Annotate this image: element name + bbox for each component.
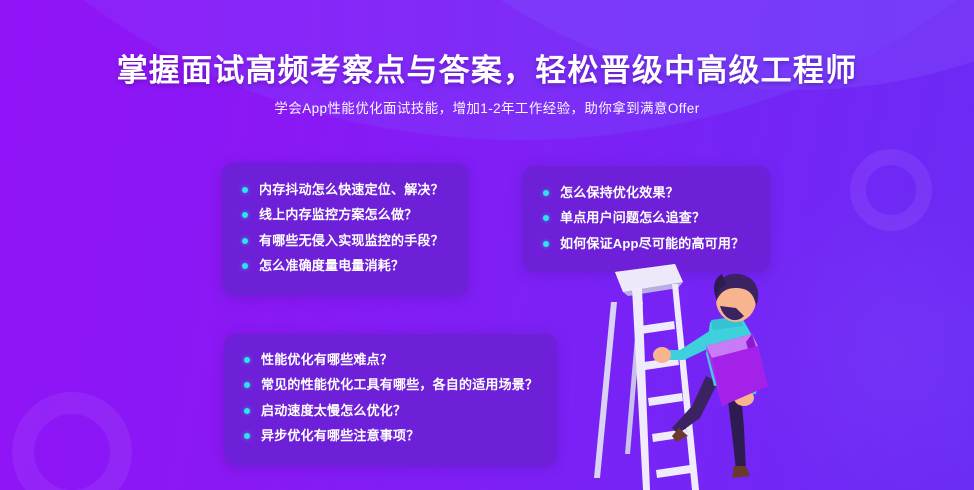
list-item: 线上内存监控方案怎么做？ — [242, 208, 450, 222]
promo-banner: 掌握面试高频考察点与答案，轻松晋级中高级工程师 学会App性能优化面试技能，增加… — [0, 0, 974, 490]
list-item: 异步优化有哪些注意事项？ — [244, 429, 539, 443]
question-text: 启动速度太慢怎么优化？ — [261, 404, 406, 418]
bullet-dot-icon — [242, 238, 248, 244]
ring-bottom-left-decoration — [12, 392, 132, 490]
bullet-dot-icon — [242, 212, 248, 218]
page-subtitle: 学会App性能优化面试技能，增加1-2年工作经验，助你拿到满意Offer — [0, 97, 974, 117]
bullet-dot-icon — [242, 263, 248, 269]
person-figure — [653, 274, 768, 478]
question-text: 线上内存监控方案怎么做？ — [259, 208, 417, 222]
person-climbing-ladder-illustration — [580, 258, 790, 490]
question-card-performance: 性能优化有哪些难点？ 常见的性能优化工具有哪些，各自的适用场景？ 启动速度太慢怎… — [224, 334, 557, 466]
list-item: 启动速度太慢怎么优化？ — [244, 404, 539, 418]
bullet-dot-icon — [244, 408, 250, 414]
bullet-dot-icon — [244, 382, 250, 388]
list-item: 内存抖动怎么快速定位、解决？ — [242, 183, 450, 197]
question-text: 如何保证App尽可能的高可用？ — [560, 237, 744, 251]
question-text: 常见的性能优化工具有哪些，各自的适用场景？ — [261, 378, 538, 392]
bullet-dot-icon — [244, 357, 250, 363]
list-item: 怎么准确度量电量消耗？ — [242, 259, 450, 273]
question-card-quality: 怎么保持优化效果？ 单点用户问题怎么追查？ 如何保证App尽可能的高可用？ — [523, 166, 770, 272]
question-text: 怎么保持优化效果？ — [560, 186, 679, 200]
question-text: 怎么准确度量电量消耗？ — [259, 259, 404, 273]
page-title: 掌握面试高频考察点与答案，轻松晋级中高级工程师 — [0, 45, 974, 90]
question-text: 异步优化有哪些注意事项？ — [261, 429, 419, 443]
list-item: 单点用户问题怎么追查？ — [543, 211, 752, 225]
bullet-dot-icon — [242, 187, 248, 193]
bullet-dot-icon — [244, 433, 250, 439]
ladder-icon — [594, 264, 699, 490]
question-text: 内存抖动怎么快速定位、解决？ — [259, 183, 444, 197]
list-item: 怎么保持优化效果？ — [543, 186, 752, 200]
list-item: 性能优化有哪些难点？ — [244, 353, 539, 367]
bullet-dot-icon — [543, 215, 549, 221]
question-text: 性能优化有哪些难点？ — [261, 353, 393, 367]
bullet-dot-icon — [543, 190, 549, 196]
list-item: 如何保证App尽可能的高可用？ — [543, 237, 752, 251]
question-card-memory: 内存抖动怎么快速定位、解决？ 线上内存监控方案怎么做？ 有哪些无侵入实现监控的手… — [222, 163, 468, 296]
list-item: 常见的性能优化工具有哪些，各自的适用场景？ — [244, 378, 539, 392]
list-item: 有哪些无侵入实现监控的手段？ — [242, 234, 450, 248]
question-text: 有哪些无侵入实现监控的手段？ — [259, 234, 444, 248]
bullet-dot-icon — [543, 241, 549, 247]
ring-top-right-decoration — [850, 149, 932, 231]
question-text: 单点用户问题怎么追查？ — [560, 211, 705, 225]
